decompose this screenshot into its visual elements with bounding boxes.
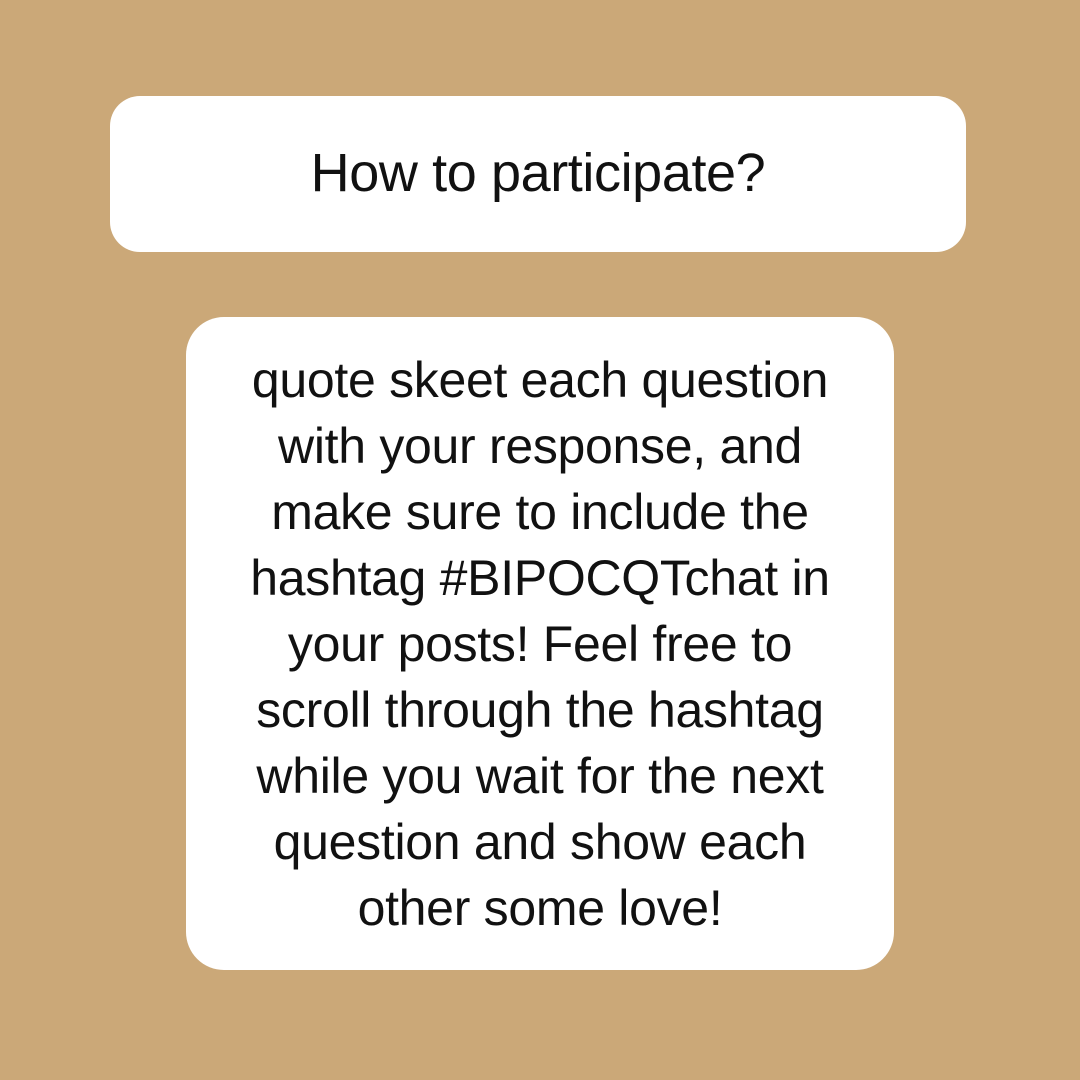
page-title: How to participate? — [311, 144, 766, 203]
body-line: make sure to include the — [220, 479, 860, 545]
body-line: while you wait for the next — [220, 743, 860, 809]
body-line: question and show each — [220, 809, 860, 875]
body-line: scroll through the hashtag — [220, 677, 860, 743]
body-card: quote skeet each question with your resp… — [186, 317, 894, 970]
body-line: your posts! Feel free to — [220, 611, 860, 677]
body-line: other some love! — [220, 875, 860, 941]
body-line: quote skeet each question — [220, 347, 860, 413]
body-line: with your response, and — [220, 413, 860, 479]
title-card: How to participate? — [110, 96, 966, 252]
body-line: hashtag #BIPOCQTchat in — [220, 545, 860, 611]
social-post-slide: How to participate? quote skeet each que… — [0, 0, 1080, 1080]
body-text: quote skeet each question with your resp… — [220, 347, 860, 941]
